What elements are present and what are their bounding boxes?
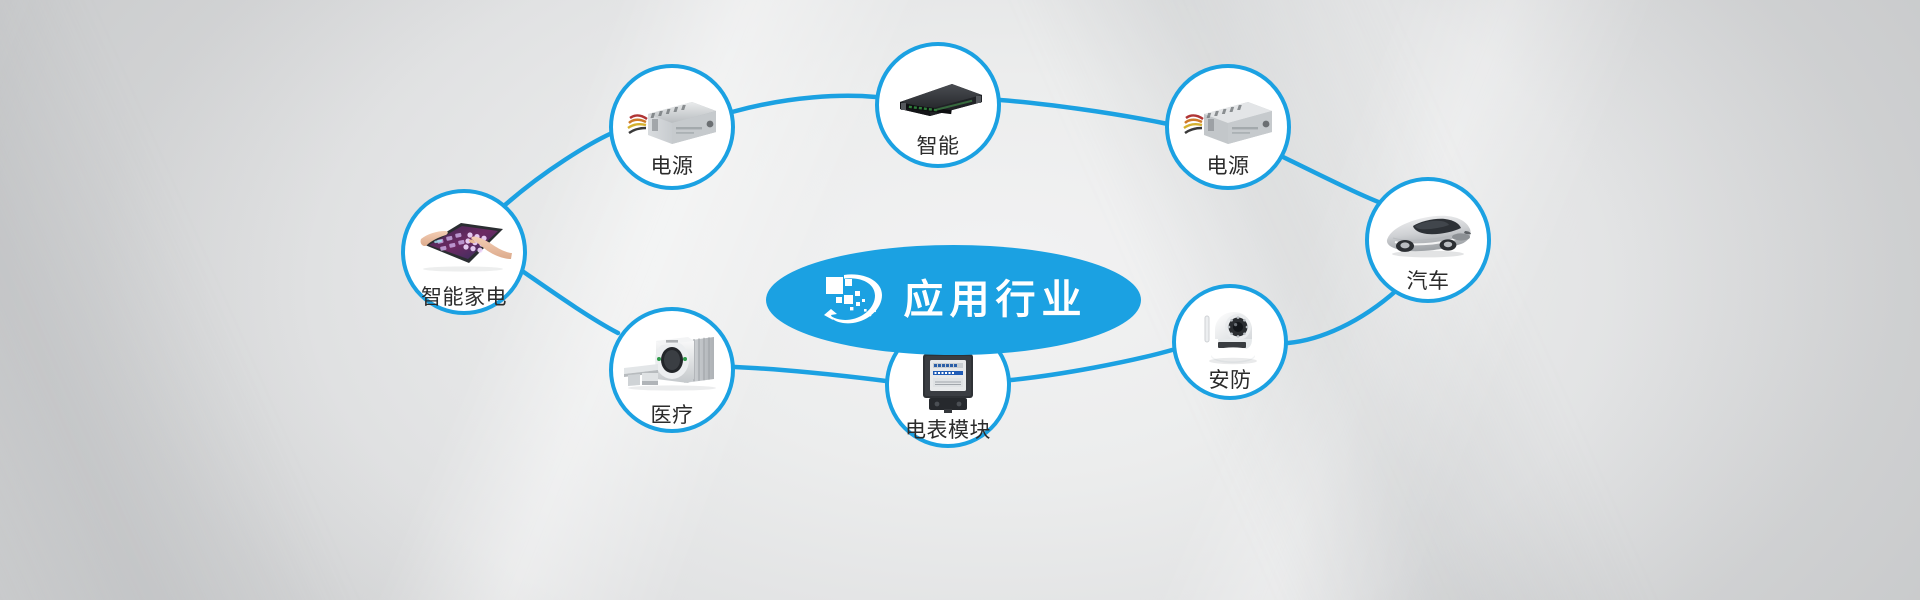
pc-power-supply-icon [1182,92,1274,148]
node-label: 电源 [613,150,731,180]
node-label: 电源 [1169,150,1287,180]
rackmount-device-icon [890,76,986,122]
link-security-meter [1011,350,1172,380]
node-label: 电表模块 [889,414,1007,444]
node-power-left[interactable]: 电源 [609,64,735,190]
ip-camera-icon [1193,306,1267,366]
link-meter-medical [735,367,886,381]
node-label: 安防 [1176,364,1284,394]
pc-power-supply-icon [626,92,718,148]
node-smart-home[interactable]: 智能家电 [401,189,527,315]
orbit-pixel-logo-icon [820,271,888,329]
node-power-right[interactable]: 电源 [1165,64,1291,190]
node-label: 医疗 [613,399,731,429]
node-label: 汽车 [1369,265,1487,295]
link-power2-auto [1281,156,1392,207]
center-title: 应用行业 [904,280,1088,320]
node-label: 智能家电 [405,281,523,311]
center-badge: 应用行业 [766,245,1141,355]
application-industries-banner: 电源 [0,0,1920,600]
node-smart[interactable]: 智能 [875,42,1001,168]
node-security[interactable]: 安防 [1172,284,1288,400]
tablet-touchscreen-icon [415,215,513,273]
link-auto-security [1288,289,1398,343]
link-smart-power2 [1000,100,1168,124]
link-power-smart [732,96,876,112]
electricity-meter-icon [915,346,981,414]
node-medical[interactable]: 医疗 [609,307,735,433]
sports-car-icon [1381,207,1475,259]
node-automotive[interactable]: 汽车 [1365,177,1491,303]
node-label: 智能 [879,130,997,160]
link-smarthome-power [505,133,612,205]
ct-scanner-icon [622,333,722,391]
